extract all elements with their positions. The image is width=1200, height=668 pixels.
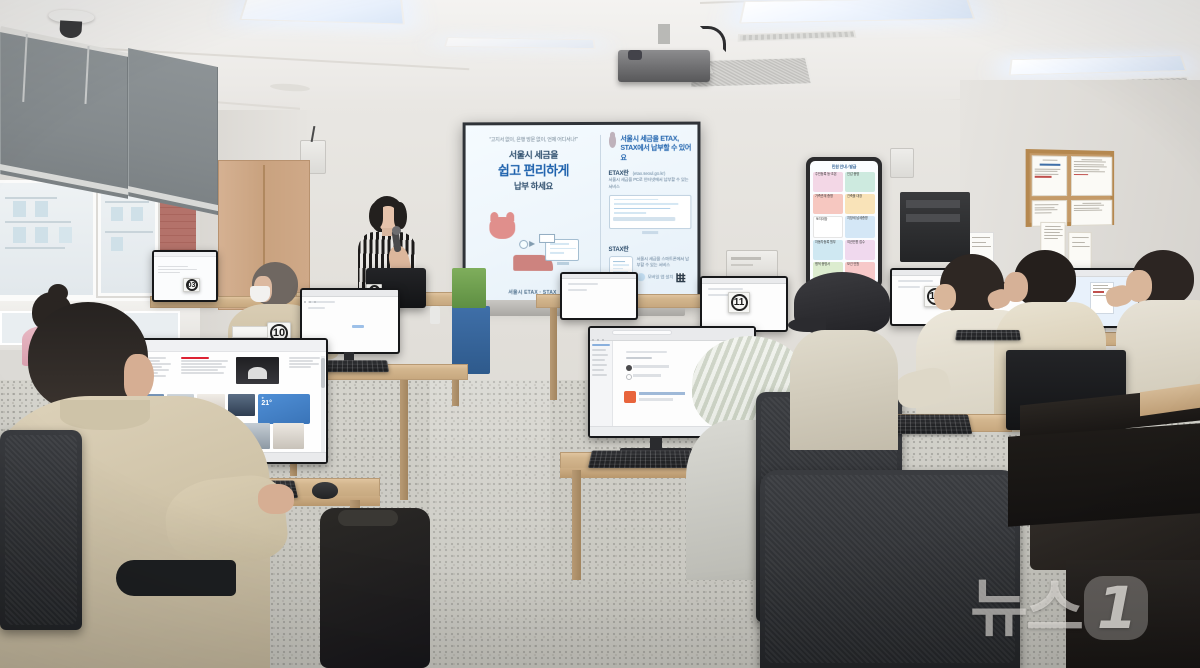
kiosk-title: 민원 안내 / 발급: [813, 164, 875, 170]
watermark-numeral: 1: [1084, 576, 1148, 640]
scrollbar[interactable]: [321, 356, 325, 460]
watermark: 뉴스 1: [970, 576, 1148, 640]
stax-label: STAX란: [609, 244, 692, 253]
qr-code-icon: [676, 273, 685, 282]
backpack-handle: [338, 510, 398, 526]
microphone-head: [392, 226, 401, 235]
desk-leg: [572, 470, 581, 580]
monitor-center-back: [560, 272, 638, 320]
rack-slot: [906, 214, 960, 222]
weather-widget: ☀ 21°: [258, 394, 310, 424]
student-hand: [258, 484, 294, 514]
notice-1: [1032, 155, 1067, 196]
arrow-icon: [529, 241, 535, 247]
qr-caption: 모바일 앱 설치: [648, 274, 674, 280]
ceiling-projector: [618, 24, 710, 82]
student-face-side: [124, 354, 154, 400]
floor-aisle: [430, 380, 550, 668]
keyboard-right-1[interactable]: [955, 330, 1021, 340]
instructor-hair-left: [369, 202, 383, 228]
kiosk-tile[interactable]: 여권민원 접수: [845, 240, 875, 260]
notice-4: [1071, 200, 1112, 226]
dome-camera: [47, 9, 94, 39]
illustration-card: [539, 234, 555, 243]
face-mask: [250, 286, 270, 302]
etax-url: (etax.seoul.go.kr): [633, 171, 666, 176]
monitor-screen: [154, 252, 216, 300]
notice-2: [1071, 156, 1112, 196]
student-shirt: [790, 330, 898, 450]
hair-bun: [48, 284, 68, 302]
kiosk-screen[interactable]: 민원 안내 / 발급 주민등록 등·초본 인감 증명 가족관계 증명 건축물 대…: [810, 161, 878, 285]
etax-label: ETAX란: [609, 168, 629, 177]
kiosk-tile[interactable]: 자동차등록 원부: [813, 240, 843, 260]
chair-armrest[interactable]: [116, 560, 236, 596]
student-face: [934, 284, 956, 310]
kiosk-tile[interactable]: 인감 증명: [845, 172, 875, 192]
weather-temp: 21°: [261, 400, 307, 407]
instructor-hair-right: [394, 202, 407, 229]
seat-plaque-03: 03: [183, 278, 200, 292]
mascot-icon: [489, 217, 515, 239]
stax-description: 서울시 세금을 스마트폰에서 납부할 수 있는 서비스: [637, 256, 692, 269]
student-cap: [788, 272, 898, 452]
student-far-right: [1126, 250, 1200, 400]
backpack: [320, 508, 430, 668]
window-pane-1: [0, 180, 96, 298]
seat-plaque-11: 11: [728, 292, 750, 313]
hand-sanitizer: [430, 306, 440, 324]
kiosk-tile[interactable]: 주민등록 등·초본: [813, 172, 843, 192]
wall-speaker-right: [890, 148, 914, 178]
kiosk-tile[interactable]: 건축물 대장: [845, 194, 875, 214]
slide-headline-1: 서울시 세금을: [475, 150, 591, 162]
foreground-right-dark: [1008, 423, 1200, 526]
desk-leg: [400, 380, 408, 500]
mouse-foreground-left[interactable]: [312, 482, 338, 499]
digital-signage-kiosk[interactable]: 민원 안내 / 발급 주민등록 등·초본 인감 증명 가족관계 증명 건축물 대…: [806, 157, 882, 289]
slide-headline-3: 납부 하세요: [475, 180, 591, 192]
app-icon[interactable]: [624, 391, 636, 403]
browser-sidebar[interactable]: [590, 341, 613, 436]
etax-description: 서울시 세금을 PC로 인터넷에서 납부할 수 있는 서비스: [609, 177, 692, 190]
slide-illustration: [483, 221, 601, 273]
slide-right-title: 서울시 세금을 ETAX, STAX에서 납부할 수 있어요: [620, 135, 691, 164]
classroom-photo: "고지서 없이, 은행 방문 없이, 언제 어디서나!" 서울시 세금을 쉽고 …: [0, 0, 1200, 668]
list-bullet: [626, 365, 632, 371]
kiosk-tile[interactable]: 지방세 납세증명: [845, 216, 875, 238]
desk-leg: [550, 308, 557, 400]
mascot-small-icon: [609, 135, 617, 148]
watermark-text: 뉴스: [970, 577, 1082, 640]
monitor-back-left: [152, 250, 218, 302]
chair-foreground-left[interactable]: [0, 430, 82, 630]
shirt-collar: [60, 400, 150, 430]
slide-quote: "고지서 없이, 은행 방문 없이, 언제 어디서나!": [475, 137, 591, 145]
kiosk-tile[interactable]: 가족관계 증명: [813, 194, 843, 214]
kiosk-tile-grid[interactable]: 주민등록 등·초본 인감 증명 가족관계 증명 건축물 대장 토지대장 지방세 …: [813, 172, 875, 282]
rack-slot: [906, 200, 960, 208]
wall-notice-board: [1026, 149, 1114, 227]
slide-headline-2: 쉽고 편리하게: [475, 163, 591, 179]
etax-monitor-mock: [609, 195, 692, 229]
kiosk-tile[interactable]: 토지대장: [813, 216, 843, 238]
check-circle-icon: [519, 240, 528, 249]
green-box: [452, 268, 486, 308]
etax-keyboard-mock: [613, 217, 675, 221]
